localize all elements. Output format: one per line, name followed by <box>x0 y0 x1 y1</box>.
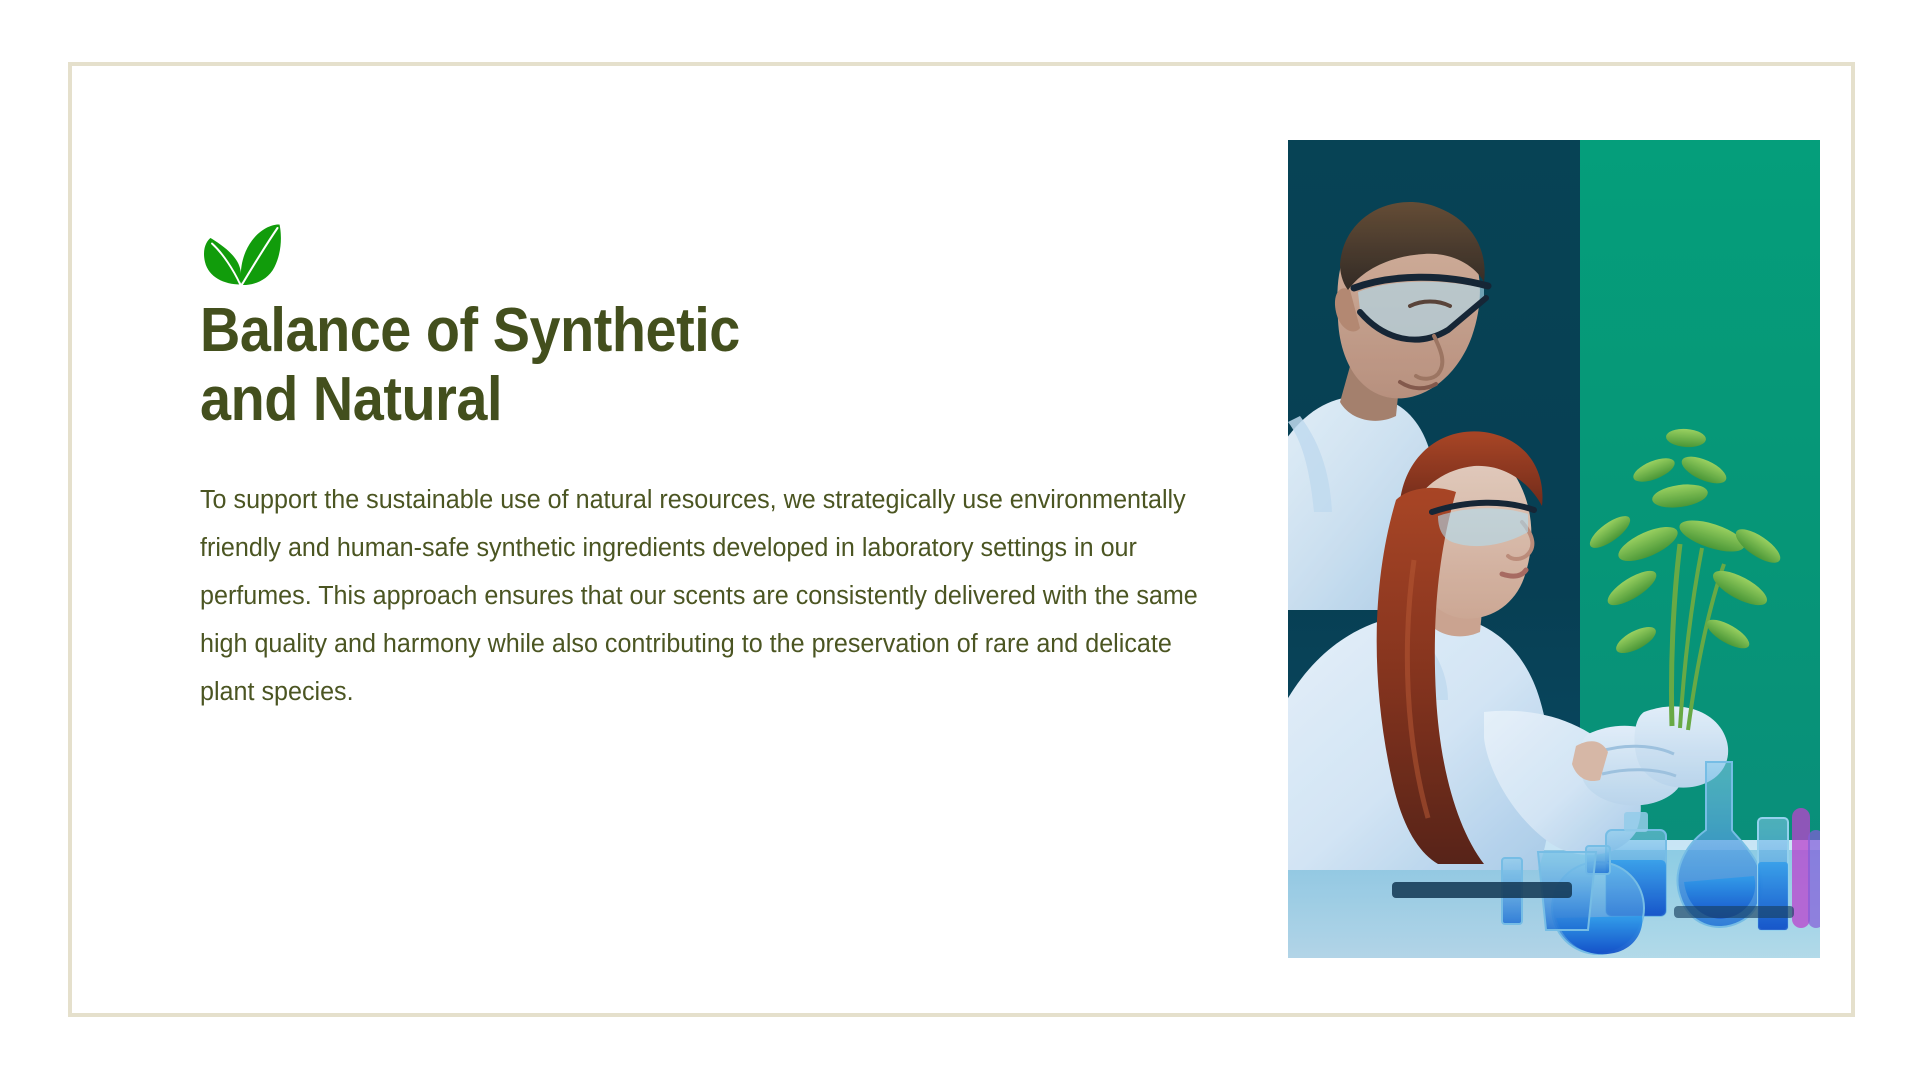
photo-color-tint <box>1288 140 1820 958</box>
leaf-icon <box>200 222 284 288</box>
body-paragraph: To support the sustainable use of natura… <box>200 477 1207 717</box>
laboratory-scientists-photo: Two scientists in white lab coats and sa… <box>1288 140 1820 958</box>
page-title: Balance of Synthetic and Natural <box>200 296 1127 435</box>
slide: Balance of Synthetic and Natural To supp… <box>0 0 1920 1080</box>
photo-illustration <box>1288 140 1820 958</box>
leaf-left-blade <box>204 238 241 285</box>
content-column: Balance of Synthetic and Natural To supp… <box>200 222 1230 717</box>
